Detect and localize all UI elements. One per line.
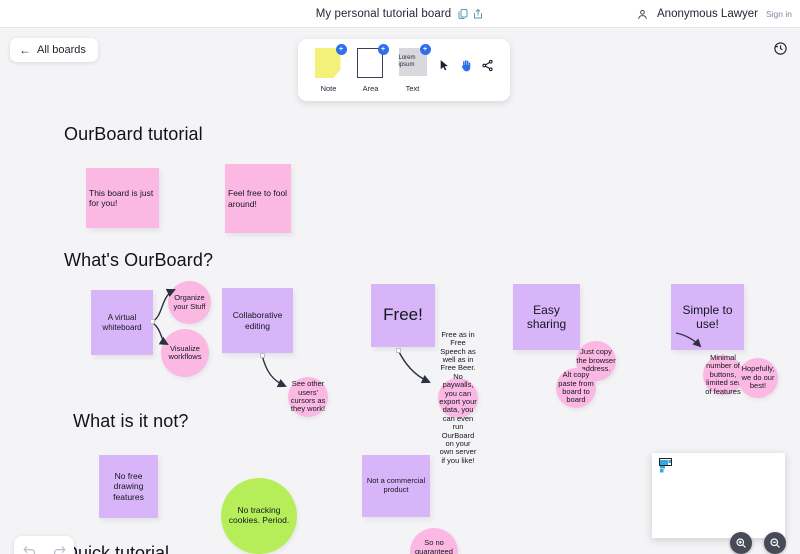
arrow-left-icon: ← xyxy=(19,44,31,56)
user-zone: Anonymous Lawyer Sign in xyxy=(636,0,792,28)
circle-note-text: Alt copy paste from board to board xyxy=(556,371,596,405)
area-add-badge[interactable]: + xyxy=(378,44,389,55)
page-title[interactable]: My personal tutorial board xyxy=(316,8,452,20)
section-title: What's OurBoard? xyxy=(64,250,213,271)
board-canvas[interactable]: ← All boards + Note + Area Lor xyxy=(0,28,800,554)
sticky-note[interactable]: Simple to use! xyxy=(671,284,744,350)
person-icon xyxy=(636,8,649,21)
zoom-in-icon[interactable] xyxy=(730,532,752,554)
tool-area-label: Area xyxy=(363,84,379,93)
circle-note[interactable]: Organize your Stuff xyxy=(168,281,211,324)
sticky-note[interactable]: This board is just for you! xyxy=(86,168,159,228)
area-rect-icon: + xyxy=(357,48,385,81)
sticky-note[interactable]: A virtual whiteboard xyxy=(91,290,153,355)
mini-tool-group xyxy=(438,48,494,73)
circle-note-text: Minimal number of buttons, limited set o… xyxy=(703,354,743,396)
tool-note-label: Note xyxy=(321,84,337,93)
circle-note[interactable]: Alt copy paste from board to board xyxy=(556,368,596,408)
connector-anchor[interactable] xyxy=(260,353,265,358)
circle-note-text: So no guaranteed either xyxy=(410,539,458,554)
sticky-note-text: This board is just for you! xyxy=(89,188,156,208)
connector-anchor[interactable] xyxy=(396,348,401,353)
sticky-note[interactable]: Free! xyxy=(371,284,435,347)
history-clock-icon[interactable] xyxy=(773,41,788,61)
circle-note[interactable]: Free as in Free Speech as well as in Fre… xyxy=(438,378,478,418)
sticky-note-text: Free! xyxy=(374,305,432,325)
sticky-note-text: Not a commercial product xyxy=(365,477,427,495)
sticky-note-text: Simple to use! xyxy=(674,303,741,331)
sticky-note-text: A virtual whiteboard xyxy=(94,313,150,332)
sticky-note[interactable]: Not a commercial product xyxy=(362,455,430,517)
circle-note-text: No tracking cookies. Period. xyxy=(221,506,297,525)
viewport-rect[interactable] xyxy=(659,458,672,466)
share-out-icon[interactable] xyxy=(472,8,484,20)
undo-redo-group xyxy=(14,536,74,554)
circle-note[interactable]: Visualize workflows xyxy=(161,329,209,377)
zoom-out-icon[interactable] xyxy=(764,532,786,554)
redo-icon[interactable] xyxy=(52,544,67,554)
circle-note[interactable]: So no guaranteed either xyxy=(410,528,458,554)
undo-icon[interactable] xyxy=(22,544,37,554)
text-icon: Lorem ipsum + xyxy=(399,48,427,81)
title-icon-group xyxy=(457,8,484,20)
create-toolbar[interactable]: + Note + Area Lorem ipsum + Text xyxy=(298,39,510,101)
circle-note-text: Organize your Stuff xyxy=(168,294,211,311)
copy-icon[interactable] xyxy=(457,8,469,20)
sticky-note-text: Collaborative editing xyxy=(225,310,290,330)
tool-note[interactable]: + Note xyxy=(312,48,345,93)
sticky-note-text: Feel free to fool around! xyxy=(228,188,288,208)
hand-pan-icon[interactable] xyxy=(459,58,473,73)
user-name: Anonymous Lawyer xyxy=(657,8,758,20)
note-add-badge[interactable]: + xyxy=(336,44,347,55)
all-boards-button[interactable]: ← All boards xyxy=(10,38,98,62)
sticky-note-text: No free drawing features xyxy=(102,471,155,501)
tool-text[interactable]: Lorem ipsum + Text xyxy=(396,48,429,93)
circle-note-text: Free as in Free Speech as well as in Fre… xyxy=(438,331,478,465)
section-title: Quick tutorial xyxy=(64,543,169,554)
tool-area[interactable]: + Area xyxy=(354,48,387,93)
sticky-note-icon: + xyxy=(315,48,343,81)
sign-in-link[interactable]: Sign in xyxy=(766,9,792,19)
sticky-note[interactable]: Feel free to fool around! xyxy=(225,164,291,233)
all-boards-label: All boards xyxy=(37,44,86,56)
cursor-arrow-icon[interactable] xyxy=(438,58,451,73)
sticky-note[interactable]: Collaborative editing xyxy=(222,288,293,353)
circle-note[interactable]: Hopefully, we do our best! xyxy=(738,358,778,398)
connector-anchor[interactable] xyxy=(150,319,155,324)
zoom-controls xyxy=(730,532,786,554)
minimap-panel[interactable] xyxy=(652,453,785,538)
circle-note[interactable]: No tracking cookies. Period. xyxy=(221,478,297,554)
circle-note[interactable]: See other users' cursors as they work! xyxy=(288,377,328,417)
circle-note-text: Hopefully, we do our best! xyxy=(738,365,778,390)
circle-note-text: See other users' cursors as they work! xyxy=(288,380,328,414)
text-add-badge[interactable]: + xyxy=(420,44,431,55)
sticky-note[interactable]: Easy sharing xyxy=(513,284,580,350)
circle-note[interactable]: Minimal number of buttons, limited set o… xyxy=(703,355,743,395)
share-node-icon[interactable] xyxy=(481,59,494,72)
ourboard-app: My personal tutorial board xyxy=(0,0,800,554)
sticky-note-text: Easy sharing xyxy=(516,303,577,331)
section-title: What is it not? xyxy=(73,411,189,432)
section-title: OurBoard tutorial xyxy=(64,124,203,145)
top-bar: My personal tutorial board xyxy=(0,0,800,28)
tool-text-label: Text xyxy=(406,84,420,93)
circle-note-text: Visualize workflows xyxy=(161,345,209,362)
sticky-note[interactable]: No free drawing features xyxy=(99,455,158,518)
